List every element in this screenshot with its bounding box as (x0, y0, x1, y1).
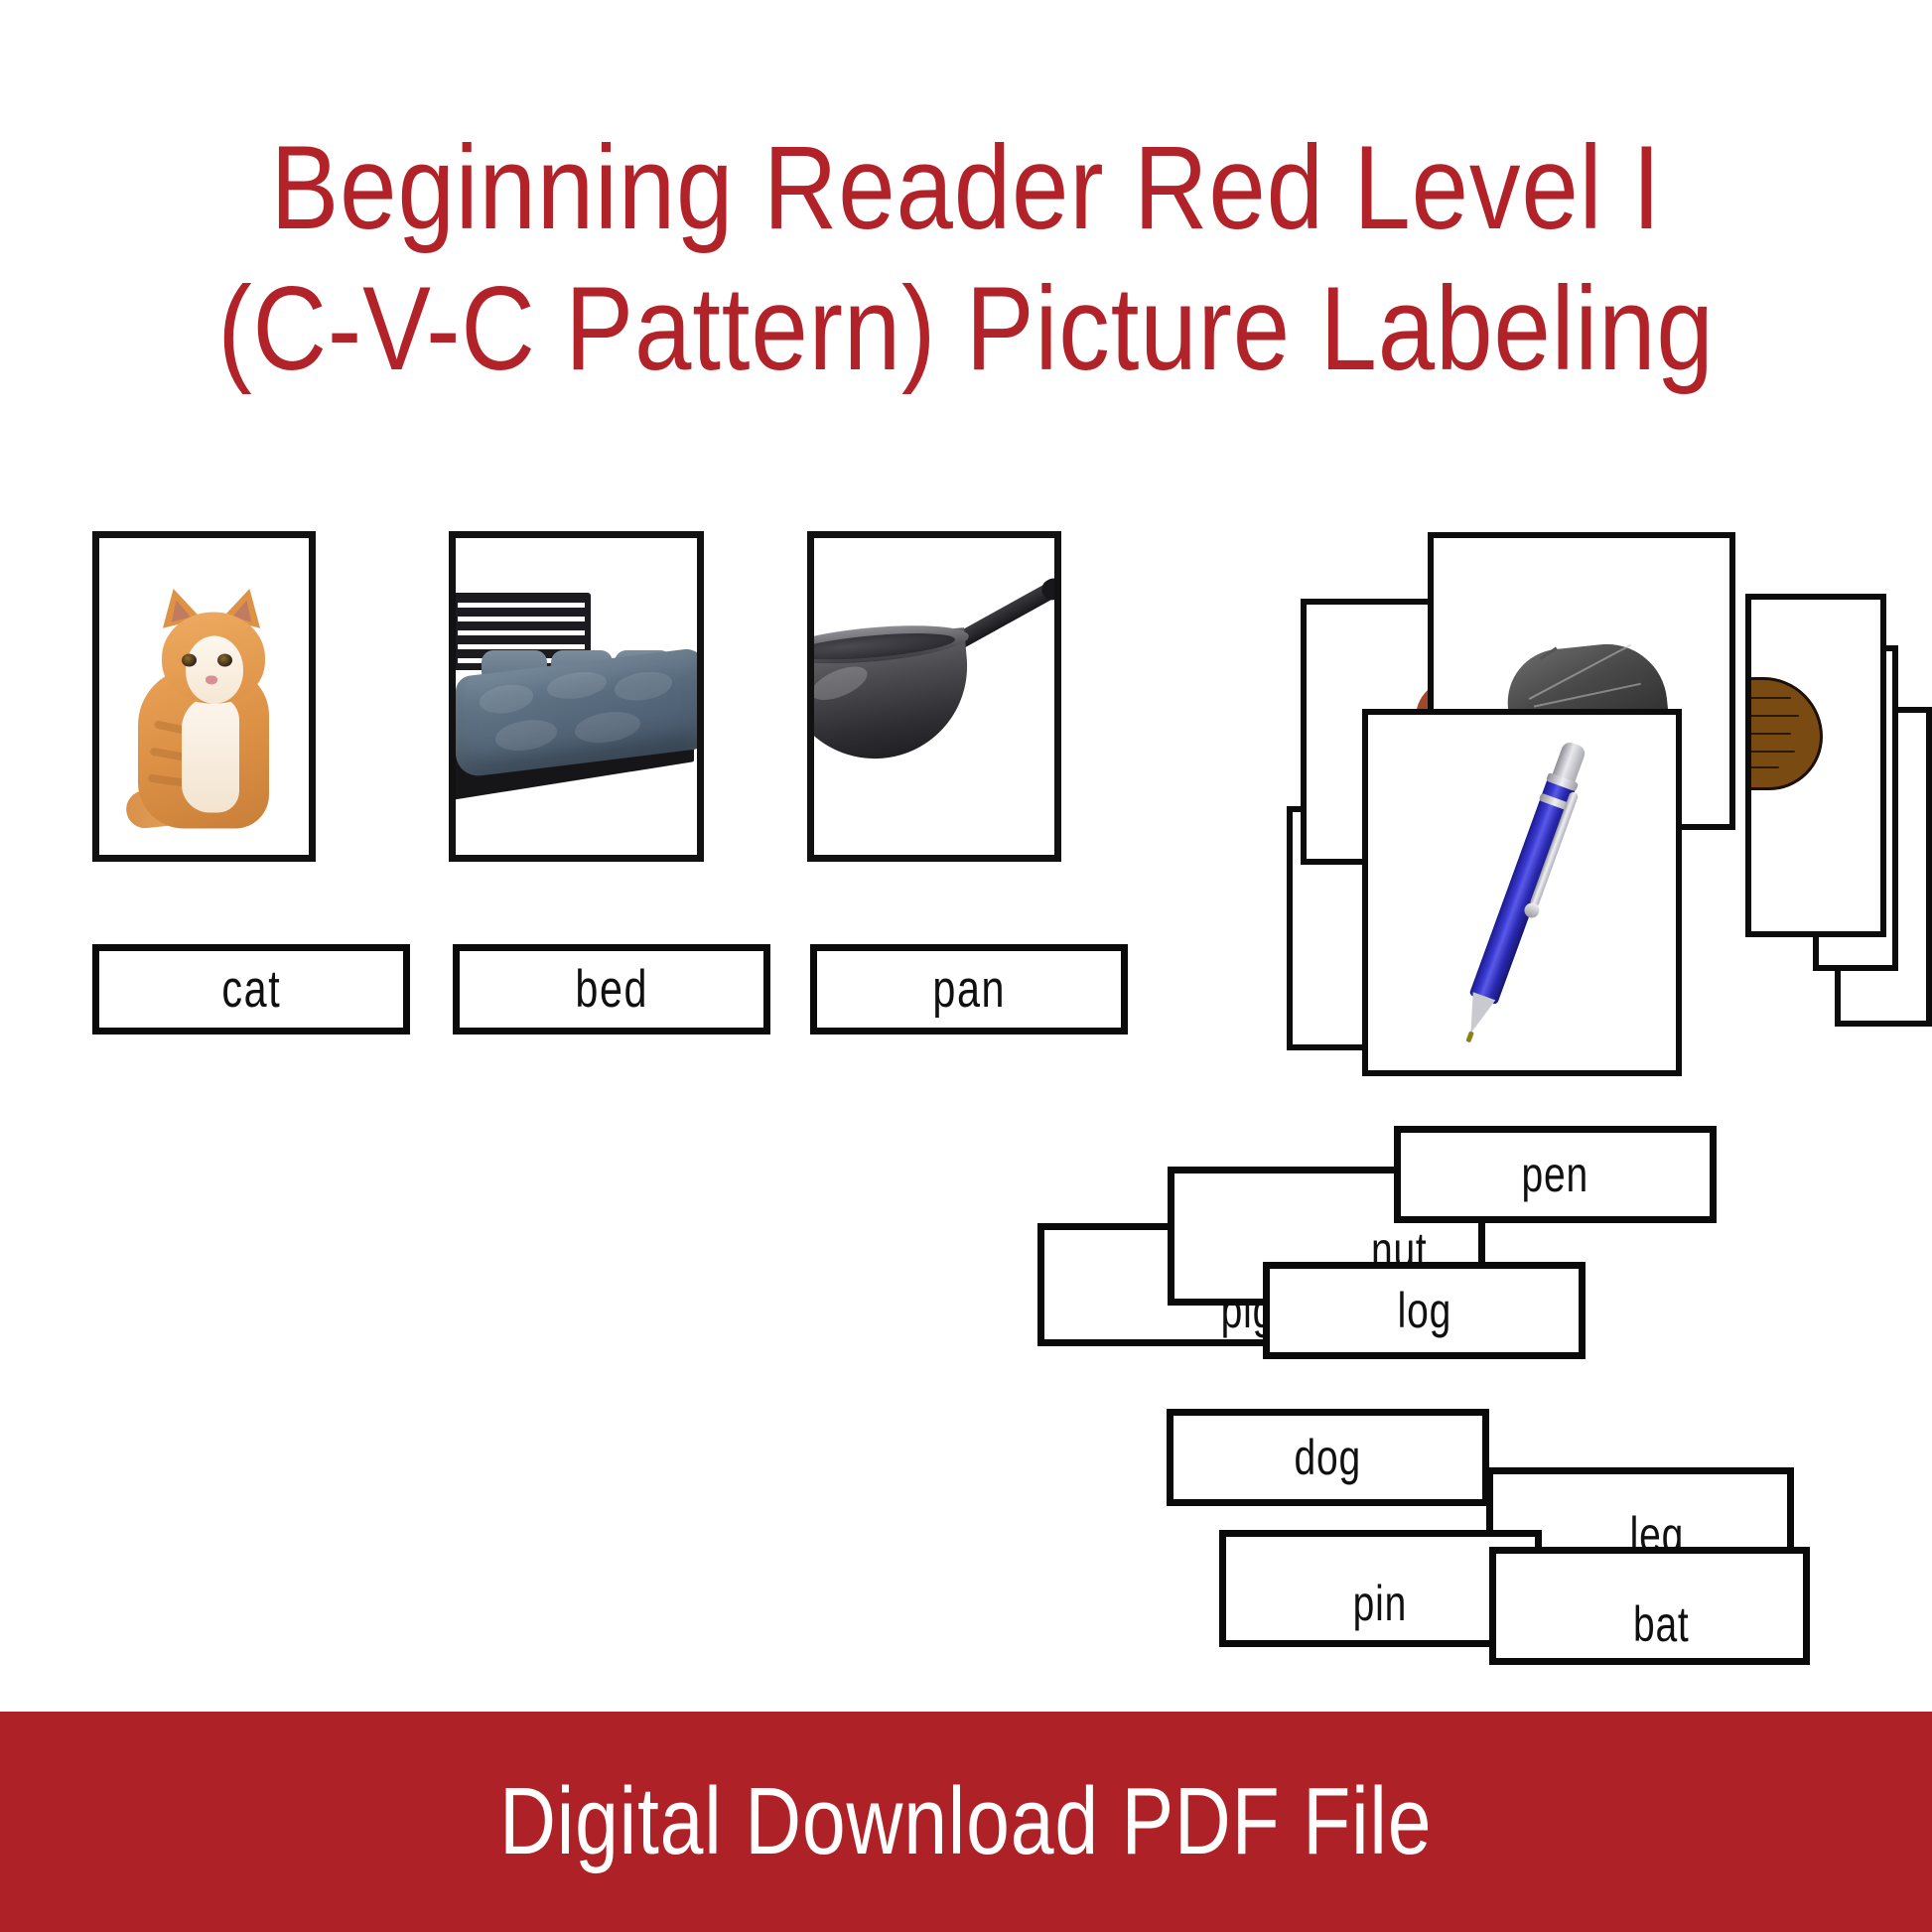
stack1-box-log[interactable]: log (1263, 1262, 1586, 1359)
title-line-1: Beginning Reader Red Level I (135, 117, 1797, 258)
stack-card-pen[interactable] (1362, 709, 1682, 1076)
stack1-box-pen[interactable]: pen (1394, 1126, 1717, 1223)
word-label-pan: pan (932, 959, 1006, 1020)
stack-card-log[interactable] (1745, 594, 1886, 937)
word-label-box-cat[interactable]: cat (92, 944, 410, 1035)
stack2-label-dog: dog (1295, 1429, 1361, 1486)
word-label-bed: bed (575, 959, 648, 1020)
footer-text: Digital Download PDF File (499, 1767, 1432, 1876)
stack2-box-bat[interactable]: bat (1489, 1547, 1810, 1665)
title-line-2: (C-V-C Pattern) Picture Labeling (135, 258, 1797, 399)
page-title: Beginning Reader Red Level I (C-V-C Patt… (0, 117, 1932, 399)
stack2-box-dog[interactable]: dog (1167, 1409, 1489, 1506)
pan-icon (814, 610, 1054, 784)
word-label-cat: cat (221, 959, 281, 1020)
stack2-label-pin: pin (1353, 1575, 1407, 1632)
cat-icon (110, 576, 299, 829)
picture-card-bed[interactable] (449, 531, 704, 862)
log-icon (1751, 677, 1819, 786)
stack1-label-pen: pen (1522, 1146, 1588, 1203)
pen-icon (1437, 728, 1606, 1056)
picture-card-cat[interactable] (92, 531, 316, 862)
stack1-label-log: log (1397, 1282, 1450, 1339)
footer-banner: Digital Download PDF File (0, 1712, 1932, 1932)
word-label-box-pan[interactable]: pan (810, 944, 1128, 1035)
picture-card-pan[interactable] (807, 531, 1061, 862)
word-label-box-bed[interactable]: bed (453, 944, 770, 1035)
bed-icon (456, 593, 697, 801)
stack2-label-bat: bat (1633, 1595, 1690, 1653)
